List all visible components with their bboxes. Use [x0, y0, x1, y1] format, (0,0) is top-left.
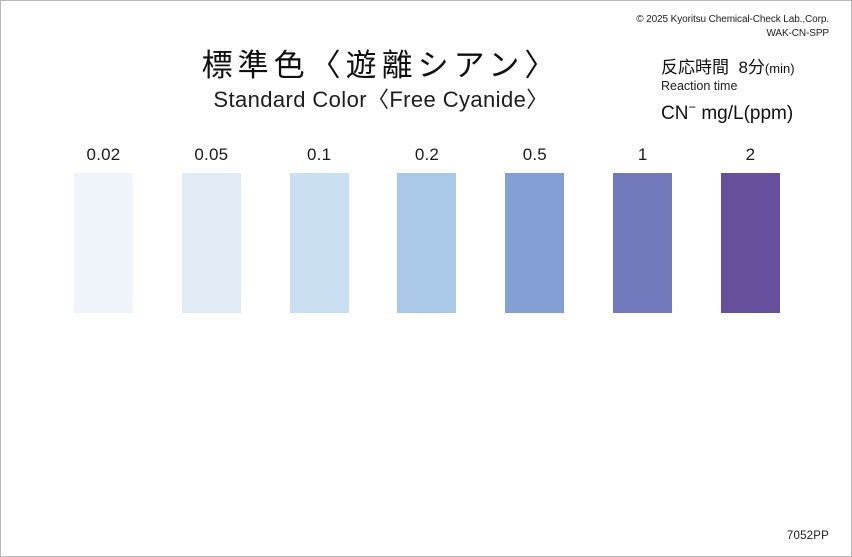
swatch-concentration-label: 0.2: [415, 146, 439, 165]
measurement-unit-line: CN− mg/L(ppm): [661, 103, 831, 126]
page-title-japanese: 標準色〈遊離シアン〉: [1, 47, 761, 84]
reaction-time-japanese: 反応時間 8分(min): [661, 57, 831, 78]
swatch-color-chip: [613, 173, 672, 313]
swatch-column: 0.1: [290, 146, 349, 313]
swatch-concentration-label: 1: [638, 146, 648, 165]
copyright-line: © 2025 Kyoritsu Chemical-Check Lab.,Corp…: [636, 13, 829, 27]
analyte-symbol: CN: [661, 103, 688, 124]
swatch-concentration-label: 0.5: [523, 146, 547, 165]
swatch-concentration-label: 2: [746, 146, 756, 165]
color-swatch-strip: 0.020.050.10.20.512: [74, 146, 780, 313]
product-code-line: WAK-CN-SPP: [636, 27, 829, 41]
concentration-unit: mg/L(ppm): [701, 103, 793, 124]
footer-code: 7052PP: [787, 530, 829, 542]
swatch-color-chip: [74, 173, 133, 313]
swatch-concentration-label: 0.1: [307, 146, 331, 165]
reaction-time-english: Reaction time: [661, 79, 831, 94]
swatch-color-chip: [290, 173, 349, 313]
reaction-info-block: 反応時間 8分(min) Reaction time CN− mg/L(ppm): [661, 57, 831, 126]
swatch-column: 1: [613, 146, 672, 313]
title-block: 標準色〈遊離シアン〉 Standard Color〈Free Cyanide〉: [1, 47, 761, 114]
copyright-block: © 2025 Kyoritsu Chemical-Check Lab.,Corp…: [636, 13, 829, 40]
reaction-time-label-jp: 反応時間: [661, 58, 729, 77]
swatch-column: 0.5: [505, 146, 564, 313]
color-chart-card: © 2025 Kyoritsu Chemical-Check Lab.,Corp…: [0, 0, 852, 557]
swatch-column: 0.02: [74, 146, 133, 313]
swatch-color-chip: [182, 173, 241, 313]
swatch-concentration-label: 0.02: [87, 146, 121, 165]
swatch-color-chip: [397, 173, 456, 313]
swatch-column: 0.05: [182, 146, 241, 313]
swatch-color-chip: [505, 173, 564, 313]
swatch-color-chip: [721, 173, 780, 313]
page-title-english: Standard Color〈Free Cyanide〉: [1, 87, 761, 113]
analyte-charge-superscript: −: [688, 100, 696, 115]
swatch-concentration-label: 0.05: [194, 146, 228, 165]
swatch-column: 0.2: [397, 146, 456, 313]
reaction-time-value: 8分: [738, 58, 764, 77]
swatch-column: 2: [721, 146, 780, 313]
reaction-time-unit: (min): [765, 61, 795, 76]
